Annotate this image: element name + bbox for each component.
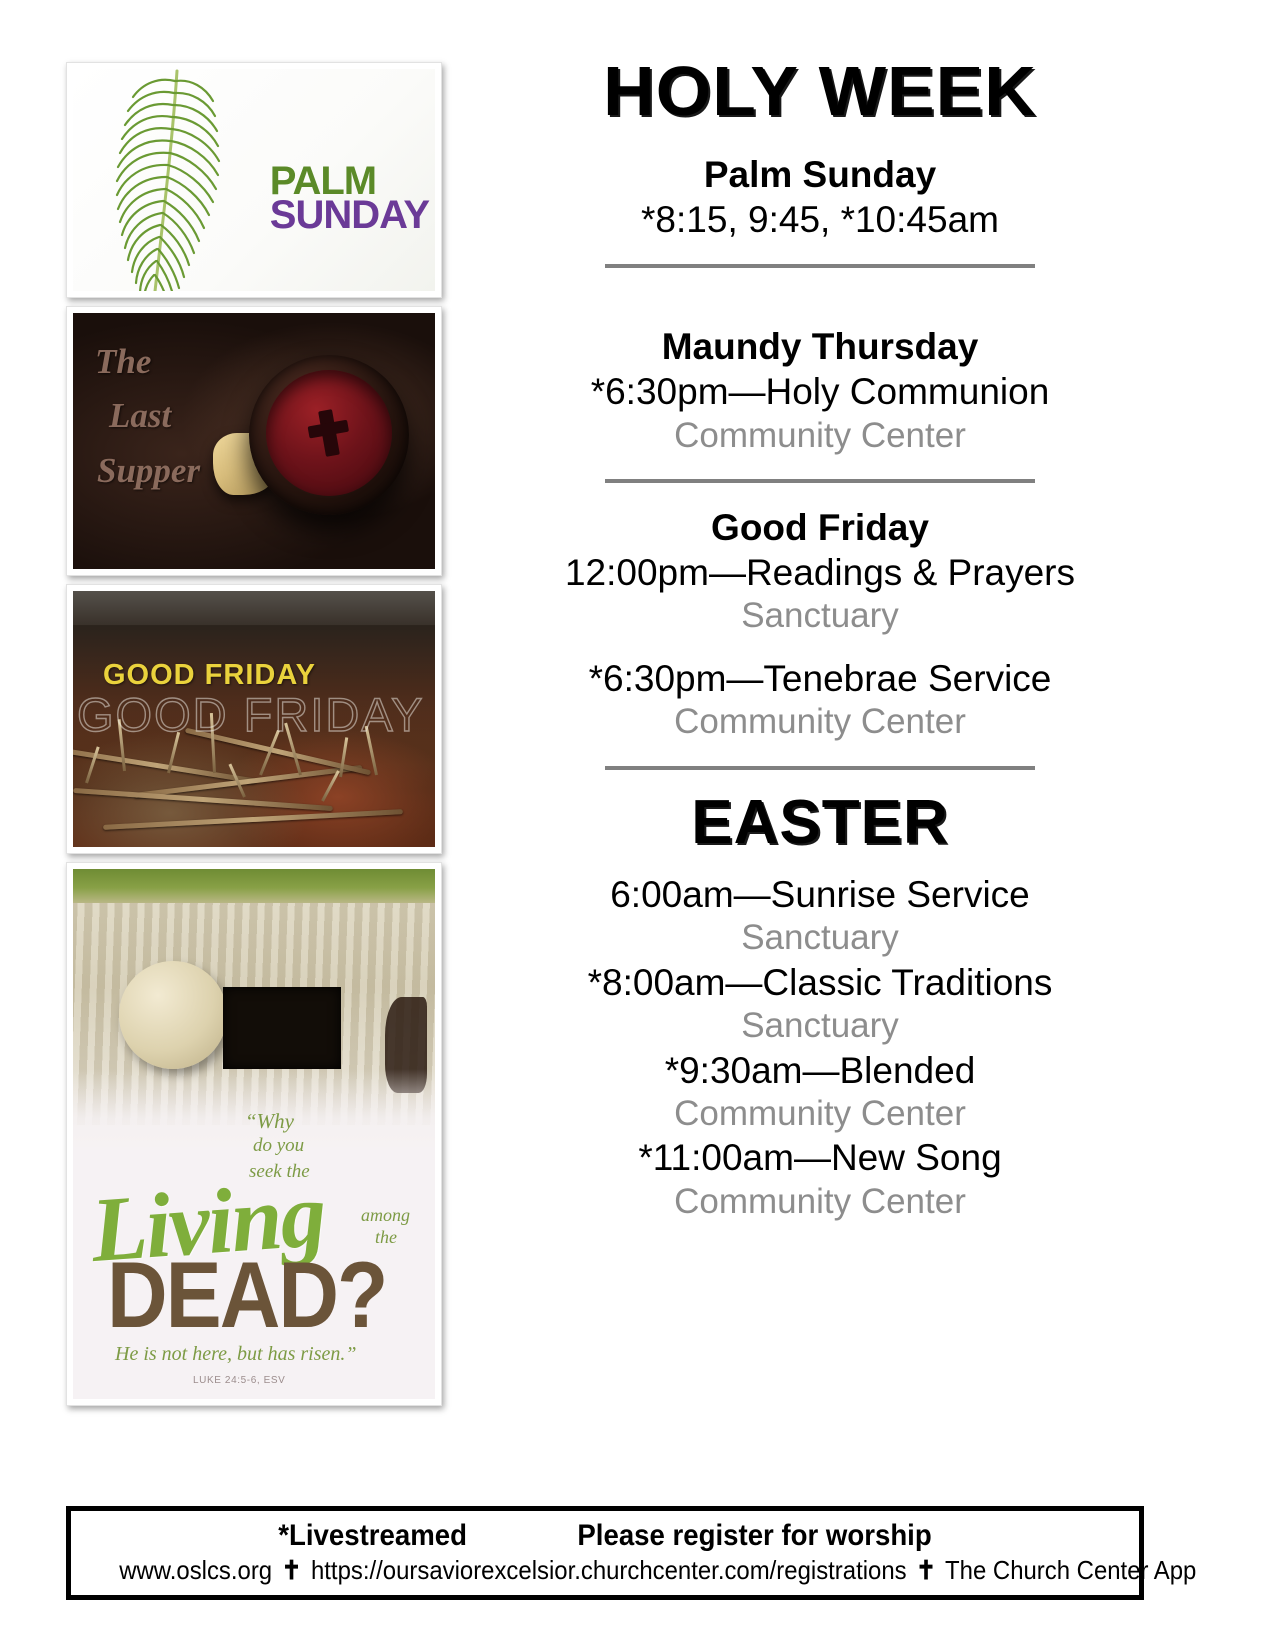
supper-line3: Supper — [95, 444, 200, 498]
service-venue-easter-2: Community Center — [470, 1093, 1170, 1136]
good-friday-photo: GOOD FRIDAY GOOD FRIDAY — [73, 591, 435, 847]
cross-separator-2: ✝ — [913, 1555, 939, 1585]
schedule-section-easter: 6:00am—Sunrise Service Sanctuary *8:00am… — [470, 872, 1170, 1223]
service-venue-good-friday-1: Community Center — [470, 701, 1170, 744]
livestreamed-note: *Livestreamed — [278, 1519, 467, 1553]
service-venue-easter-0: Sanctuary — [470, 917, 1170, 960]
last-supper-caption: The Last Supper — [95, 335, 200, 498]
spacer-1 — [470, 290, 1170, 324]
supper-line1: The — [95, 335, 200, 389]
supper-line2: Last — [95, 389, 200, 443]
divider-2 — [605, 479, 1035, 483]
good-friday-ghost-label: GOOD FRIDAY — [77, 687, 425, 742]
day-name-maundy-thursday: Maundy Thursday — [470, 324, 1170, 369]
rolled-stone-icon — [119, 961, 227, 1069]
schedule-section-palm-sunday: Palm Sunday *8:15, 9:45, *10:45am — [470, 152, 1170, 242]
service-time-easter-3: *11:00am—New Song — [470, 1135, 1170, 1180]
service-time-palm-sunday-0: *8:15, 9:45, *10:45am — [470, 197, 1170, 242]
palm-frond-icon — [99, 69, 249, 291]
schedule-column: HOLY WEEK Palm Sunday *8:15, 9:45, *10:4… — [470, 56, 1170, 1223]
palm-sunday-photo: PALM SUNDAY — [73, 69, 435, 291]
wine-surface — [266, 370, 392, 496]
schedule-section-good-friday: Good Friday 12:00pm—Readings & Prayers S… — [470, 505, 1170, 744]
last-supper-photo-frame: The Last Supper — [66, 306, 442, 576]
website-link[interactable]: www.oslcs.org — [119, 1555, 272, 1585]
day-name-palm-sunday: Palm Sunday — [470, 152, 1170, 197]
church-center-app-label: The Church Center App — [945, 1555, 1196, 1585]
palm-caption-line2: SUNDAY — [270, 199, 429, 233]
registration-url-link[interactable]: https://oursaviorexcelsior.churchcenter.… — [311, 1555, 907, 1585]
easter-quote-among: among — [361, 1205, 410, 1226]
service-time-easter-0: 6:00am—Sunrise Service — [470, 872, 1170, 917]
image-column: PALM SUNDAY The Last Supper — [66, 62, 442, 1414]
flyer-page: PALM SUNDAY The Last Supper — [0, 0, 1275, 1650]
good-friday-label: GOOD FRIDAY — [103, 659, 316, 692]
last-supper-photo: The Last Supper — [73, 313, 435, 569]
divider-3 — [605, 766, 1035, 770]
service-venue-easter-1: Sanctuary — [470, 1005, 1170, 1048]
service-venue-maundy-thursday-0: Community Center — [470, 415, 1170, 458]
service-time-good-friday-0: 12:00pm—Readings & Prayers — [470, 550, 1170, 595]
easter-tomb-photo: “Why do you seek the Living among the DE… — [73, 869, 435, 1399]
blurred-background-band — [73, 591, 435, 625]
easter-section-title: EASTER — [470, 792, 1170, 854]
service-time-easter-1: *8:00am—Classic Traditions — [470, 960, 1170, 1005]
service-time-maundy-thursday-0: *6:30pm—Holy Communion — [470, 369, 1170, 414]
spacer-2 — [470, 638, 1170, 656]
easter-tomb-photo-frame: “Why do you seek the Living among the DE… — [66, 862, 442, 1406]
scripture-reference: LUKE 24:5-6, ESV — [193, 1375, 285, 1386]
palm-sunday-caption: PALM SUNDAY — [270, 165, 429, 232]
easter-quote-line2: do you — [253, 1135, 304, 1157]
page-title: HOLY WEEK — [463, 56, 1177, 126]
service-time-good-friday-1: *6:30pm—Tenebrae Service — [470, 656, 1170, 701]
service-venue-good-friday-0: Sanctuary — [470, 595, 1170, 638]
service-time-easter-2: *9:30am—Blended — [470, 1048, 1170, 1093]
day-name-good-friday: Good Friday — [470, 505, 1170, 550]
cross-icon — [318, 409, 340, 457]
footer-box: *Livestreamed Please register for worshi… — [66, 1506, 1144, 1600]
footer-links: www.oslcs.org ✝ https://oursaviorexcelsi… — [119, 1555, 1091, 1586]
easter-quote-dead: DEAD? — [107, 1241, 386, 1350]
tomb-opening — [223, 987, 341, 1069]
easter-quote-risen: He is not here, but has risen.” — [115, 1343, 356, 1366]
schedule-section-maundy-thursday: Maundy Thursday *6:30pm—Holy Communion C… — [470, 324, 1170, 457]
easter-quote-line1: “Why — [245, 1109, 294, 1134]
footer-headings: *Livestreamed Please register for worshi… — [119, 1519, 1091, 1553]
service-venue-easter-3: Community Center — [470, 1181, 1170, 1224]
good-friday-photo-frame: GOOD FRIDAY GOOD FRIDAY — [66, 584, 442, 854]
divider-1 — [605, 264, 1035, 268]
grass-strip — [73, 869, 435, 903]
register-note: Please register for worship — [577, 1519, 931, 1553]
cross-separator-1: ✝ — [279, 1555, 305, 1585]
palm-sunday-photo-frame: PALM SUNDAY — [66, 62, 442, 298]
communion-cup-icon — [249, 355, 409, 515]
